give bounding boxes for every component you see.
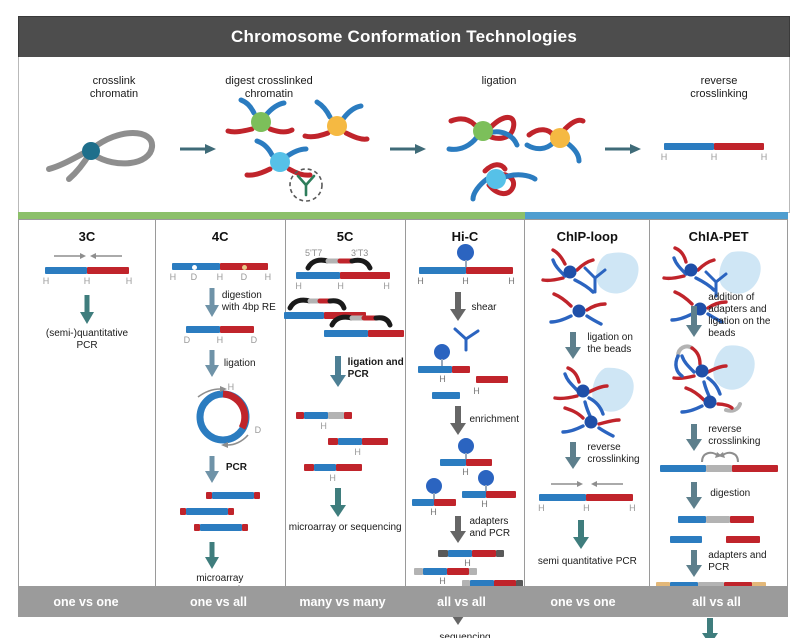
step-note-enrichment: enrichment [470,414,519,426]
dna-red-segment [452,366,470,373]
h-mark: H [478,499,492,509]
dna-red-segment [368,330,404,337]
dna-red-segment [466,459,492,466]
dna-red-segment [486,491,516,498]
biotin-marker [434,344,450,360]
dna-blue-segment [539,494,586,501]
column-title-chia-pet: ChIA-PET [650,229,787,244]
h-mark: H [579,503,593,513]
workflow-arrow-1 [179,142,217,156]
digested-chromatin-glyph [224,99,374,199]
step-note-pcr: semi quantitative PCR [525,556,649,568]
h-mark: H [534,503,548,513]
footer-label-5c: many vs many [283,586,402,617]
h-mark: H [122,276,136,286]
d-mark: D [251,425,265,435]
h-mark: H [80,276,94,286]
h-mark: H [625,503,639,513]
step-note-pcr: (semi-)quantitative PCR [25,328,149,352]
flow-arrow [686,306,702,338]
h-mark: H [470,386,484,396]
h-mark: H [461,558,475,568]
dna-red-segment [220,326,254,333]
flow-arrow [204,456,220,484]
step-note-reverse-crosslinking: reverse crosslinking [708,424,782,448]
h-mark: H [459,276,473,286]
step-note-readout: microarray or sequencing [286,522,405,534]
pcr-primer-arrows [52,250,124,262]
h-mark: H [326,473,340,483]
step-note-adapters-pcr: adapters and PCR [708,550,782,574]
method-category-band [18,212,788,219]
h-mark: H [436,576,450,586]
step-note-ligation-pcr: ligation and PCR [348,357,406,381]
column-title-hic: Hi-C [406,229,525,244]
flow-arrow [573,520,589,550]
dna-blue-segment [186,326,220,333]
workflow-arrow-3 [604,142,642,156]
flow-arrow [565,332,581,360]
column-title-3c: 3C [19,229,155,244]
footer-label-4c: one vs all [154,586,283,617]
d-mark: D [237,272,251,282]
figure-root: Chromosome Conformation Technologies cro… [0,0,800,638]
primer-label-3t3: 3'T3 [348,248,372,258]
flow-arrow [204,542,220,570]
ligated-bead-complex-glyph [664,342,776,422]
dna-blue-segment [440,459,466,466]
biotin-marker [457,244,474,261]
method-columns: 3C H H H (semi-)quantitative PCR [18,219,788,586]
dna-red-segment [340,272,390,279]
dna-blue-segment [419,267,466,274]
step-note-reverse-crosslinking: reverse crosslinking [587,442,649,466]
primer-hook-pair [288,298,348,312]
flow-arrow [450,406,466,436]
dna-red-segment [87,267,129,274]
figure-title-bar: Chromosome Conformation Technologies [18,16,790,58]
dna-blue-segment [45,267,87,274]
column-title-chip-loop: ChIP-loop [525,229,649,244]
primer-label-5t7: 5'T7 [302,248,326,258]
bead-complex-glyph [535,248,647,328]
pcr-primer-arrows [549,478,625,490]
flow-arrow [686,424,702,452]
h-mark: H [657,152,671,162]
column-3c[interactable]: 3C H H H (semi-)quantitative PCR [18,219,156,588]
step-note-digestion: digestion with 4bp RE [222,290,288,314]
footer-label-chip-loop: one vs one [521,586,645,617]
step-note-adapters-ligation: addition of adapters and ligation on the… [708,292,786,340]
step-note-sequencing: sequencing [406,632,525,638]
column-chip-loop[interactable]: ChIP-loop [525,219,650,588]
workflow-arrow-2 [389,142,427,156]
flow-arrow [565,442,581,470]
h-mark: H [224,382,238,392]
dna-red-segment [732,465,778,472]
flow-arrow [686,482,702,510]
biotin-marker [426,478,442,494]
footer-label-hic: all vs all [402,586,521,617]
step-note-ligation-beads: ligation on the beads [587,332,649,356]
h-mark: H [505,276,519,286]
dna-blue-segment [412,499,434,506]
step-note-shear: shear [472,302,497,314]
h-mark: H [459,467,473,477]
d-mark: D [180,335,194,345]
step-note-digestion: digestion [710,488,750,500]
h-mark: H [292,281,306,291]
flow-arrow [204,288,220,318]
resolution-footer: one vs one one vs all many vs many all v… [18,586,788,617]
restriction-site-dot [242,265,247,270]
dna-blue-segment [660,465,706,472]
column-hic[interactable]: Hi-C H H H shear [406,219,526,588]
h-mark: H [351,447,365,457]
workflow-step-label-crosslink: crosslink chromatin [59,75,169,101]
dna-blue-segment [418,366,452,373]
column-title-5c: 5C [286,229,405,244]
flow-arrow [702,618,718,638]
flow-arrow [79,295,95,325]
h-mark: H [213,272,227,282]
workflow-step-label-reverse: reverse crosslinking [659,75,779,101]
h-mark: H [436,374,450,384]
h-mark: H [317,421,331,431]
dna-blue-segment [284,312,324,319]
d-mark: D [187,272,201,282]
step-note-adapters: adapters and PCR [470,516,526,540]
h-mark: H [380,281,394,291]
dna-red-fragment [476,376,508,383]
h-mark: H [707,152,721,162]
column-title-4c: 4C [156,229,285,244]
dna-blue-fragment [432,392,460,399]
h-mark: H [757,152,771,162]
workflow-step-label-digest: digest crosslinked chromatin [194,75,344,101]
band-green-segment [18,212,525,219]
footer-label-chia-pet: all vs all [645,586,788,617]
dna-blue-segment [462,491,486,498]
page-title: Chromosome Conformation Technologies [231,27,577,47]
dna-red-segment [586,494,633,501]
flow-arrow [204,350,220,378]
column-chia-pet[interactable]: ChIA-PET [650,219,788,588]
workflow-panel: crosslink chromatin digest crosslinked c… [18,57,790,213]
h-mark: H [334,281,348,291]
d-mark: D [247,335,261,345]
column-5c[interactable]: 5C 5'T7 3'T3 H H H [286,219,406,588]
crosslinked-chromatin-glyph [44,107,174,187]
flow-arrow [330,488,346,518]
workflow-step-label-ligation: ligation [439,75,559,88]
h-mark: H [261,272,275,282]
dna-red-segment [466,267,513,274]
step-note-pcr: PCR [226,462,247,474]
flow-arrow [686,550,702,578]
circular-product-glyph [184,383,262,451]
biotin-marker [458,438,474,454]
ligated-bead-complex-glyph [543,366,651,438]
restriction-site-dot [192,265,197,270]
flow-arrow [330,356,346,388]
adapter-curved-arrows [698,450,742,464]
flow-arrow [450,516,466,544]
column-4c[interactable]: 4C H D H D H digestion with 4bp RE D H D [156,219,286,588]
dna-red-segment [434,499,456,506]
adapter-segment [706,465,732,472]
h-mark: H [166,272,180,282]
antibody-icon [450,326,484,352]
biotin-marker [478,470,494,486]
dna-blue-segment [296,272,340,279]
h-mark: H [414,276,428,286]
primer-hook-pair [304,258,376,272]
h-mark: H [427,507,441,517]
h-mark: H [213,335,227,345]
step-note-ligation: ligation [224,358,256,370]
primer-hook-pair [330,315,392,329]
footer-label-3c: one vs one [18,586,154,617]
ligated-chromatin-glyph [439,99,599,199]
band-blue-segment [525,212,788,219]
h-mark: H [39,276,53,286]
dna-blue-segment [324,330,368,337]
flow-arrow [450,292,466,322]
